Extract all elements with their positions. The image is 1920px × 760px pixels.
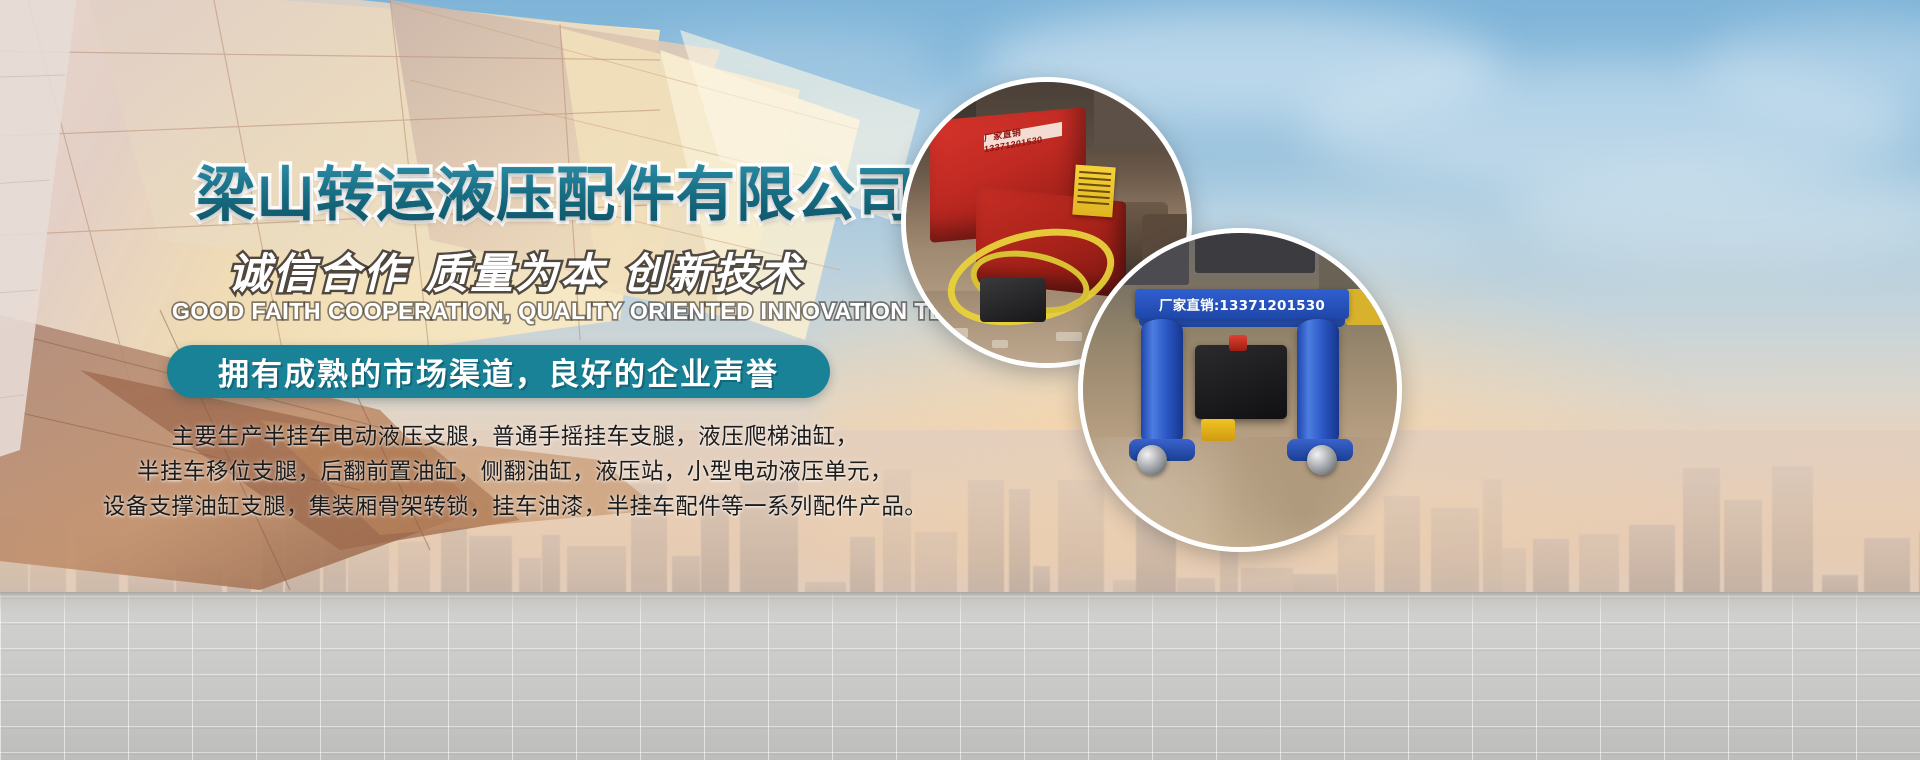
banner-text-block: 梁山转运液压配件有限公司 梁山转运液压配件有限公司 诚信合作 质量为本 创新技术… <box>0 0 1040 700</box>
pump-unit <box>980 278 1046 322</box>
debris <box>946 328 968 338</box>
blue-hydraulic-unit-photo: 厂家直销:13371201530 <box>1078 228 1402 552</box>
background-clutter <box>1195 233 1315 273</box>
warning-sticker <box>1072 165 1115 218</box>
dealer-phone-plate: 厂家直销:13371201530 <box>1135 289 1349 319</box>
highlight-pill: 拥有成熟的市场渠道，良好的企业声誉 <box>167 345 830 398</box>
slogan-cn-fill-text: 诚信合作 质量为本 创新技术 <box>228 250 803 298</box>
background-clutter <box>1099 239 1189 285</box>
yellow-component <box>1201 419 1235 441</box>
dealer-phone-text: 厂家直销:13371201530 <box>1159 294 1325 314</box>
control-box <box>1195 345 1287 419</box>
red-button <box>1229 335 1247 351</box>
description-line-2: 半挂车移位支腿，后翻前置油缸，侧翻油缸，液压站，小型电动液压单元， <box>0 455 1030 490</box>
hero-banner: 梁山转运液压配件有限公司 梁山转运液压配件有限公司 诚信合作 质量为本 创新技术… <box>0 0 1920 760</box>
company-title: 梁山转运液压配件有限公司 <box>196 163 916 227</box>
highlight-pill-text: 拥有成熟的市场渠道，良好的企业声誉 <box>167 345 830 398</box>
machine-label: 厂家直销13371201530 <box>984 122 1062 150</box>
debris <box>992 340 1008 348</box>
blue-cylinder-left <box>1141 319 1183 447</box>
background-clutter <box>1094 88 1192 148</box>
blue-photo-scene: 厂家直销:13371201530 <box>1083 233 1397 547</box>
caster-wheel-left <box>1137 445 1167 475</box>
yellow-equipment <box>1345 289 1391 325</box>
product-description: 主要生产半挂车电动液压支腿，普通手摇挂车支腿，液压爬梯油缸， 半挂车移位支腿，后… <box>0 420 1030 525</box>
caster-wheel-right <box>1307 445 1337 475</box>
debris <box>1056 332 1082 341</box>
description-line-1: 主要生产半挂车电动液压支腿，普通手摇挂车支腿，液压爬梯油缸， <box>0 420 1030 455</box>
description-line-3: 设备支撑油缸支腿，集装厢骨架转锁，挂车油漆，半挂车配件等一系列配件产品。 <box>0 490 1030 525</box>
blue-cylinder-right <box>1297 319 1339 447</box>
